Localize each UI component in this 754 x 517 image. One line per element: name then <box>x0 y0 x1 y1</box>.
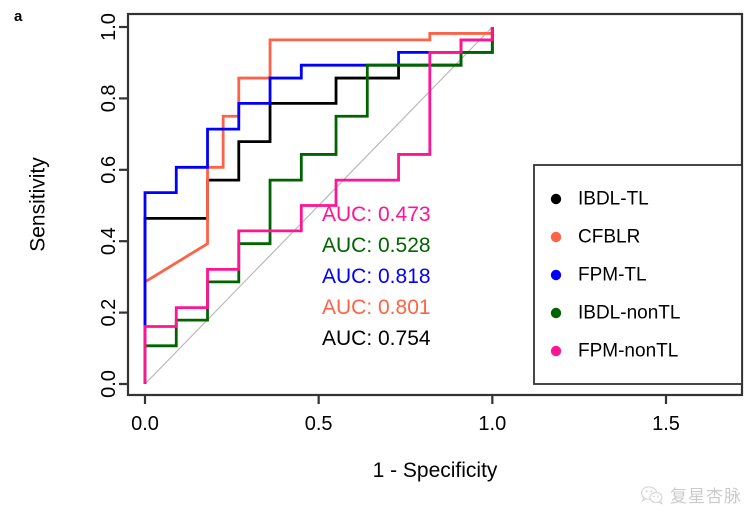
y-axis-title: Sensitivity <box>27 157 50 252</box>
auc-annotation: AUC: 0.818 <box>322 265 431 288</box>
y-axis-tick-label: 1.0 <box>98 13 120 41</box>
x-axis-tick-label: 1.0 <box>478 413 506 435</box>
legend-label-ibdl-tl: IBDL-TL <box>578 189 649 210</box>
y-axis-tick-label: 0.4 <box>98 227 120 255</box>
legend-marker-ibdl-nontl <box>551 308 561 318</box>
auc-annotation: AUC: 0.473 <box>322 203 431 226</box>
legend-label-ibdl-nontl: IBDL-nonTL <box>578 303 680 324</box>
x-axis-title: 1 - Specificity <box>373 459 498 482</box>
legend-marker-fpm-nontl <box>551 346 561 356</box>
x-axis-tick-label: 1.5 <box>652 413 680 435</box>
y-axis-tick-label: 0.2 <box>98 299 120 327</box>
legend-label-cfblr: CFBLR <box>578 227 640 248</box>
y-axis-tick-label: 0.8 <box>98 84 120 112</box>
roc-chart-figure: a 0.00.51.01.50.00.20.40.60.81.01 - Spec… <box>0 0 754 517</box>
y-axis-tick-label: 0.6 <box>98 156 120 184</box>
auc-annotation: AUC: 0.754 <box>322 327 431 350</box>
legend-marker-cfblr <box>551 232 561 242</box>
wechat-icon <box>641 485 663 505</box>
x-axis-tick-label: 0.0 <box>131 413 159 435</box>
legend-marker-fpm-tl <box>551 270 561 280</box>
legend-label-fpm-nontl: FPM-nonTL <box>578 341 678 362</box>
y-axis-tick-label: 0.0 <box>98 370 120 398</box>
auc-annotation: AUC: 0.528 <box>322 234 431 257</box>
watermark-text: 复星杏脉 <box>670 482 742 507</box>
auc-annotation: AUC: 0.801 <box>322 296 431 319</box>
legend-marker-ibdl-tl <box>551 194 561 204</box>
roc-plot-svg: 0.00.51.01.50.00.20.40.60.81.01 - Specif… <box>0 0 754 517</box>
x-axis-tick-label: 0.5 <box>305 413 333 435</box>
watermark: 复星杏脉 <box>641 482 742 507</box>
legend-label-fpm-tl: FPM-TL <box>578 265 647 286</box>
